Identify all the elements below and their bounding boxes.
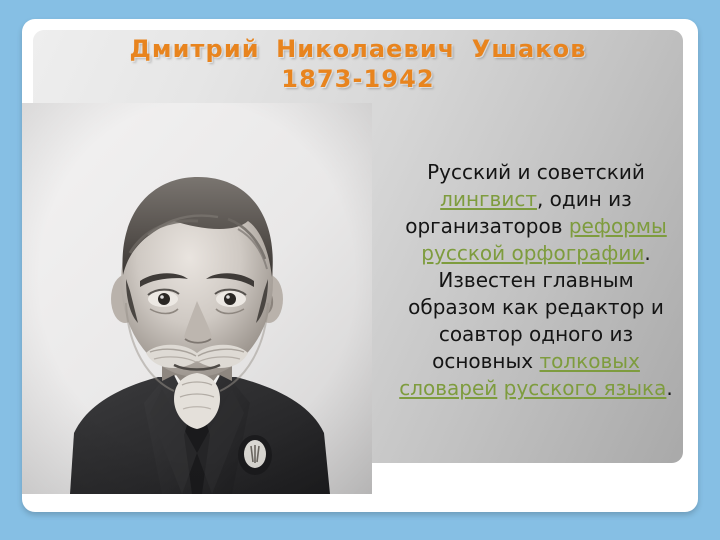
- portrait-photo: [22, 103, 372, 494]
- portrait-photo-image: [22, 103, 372, 494]
- link-russkogo-yazyka[interactable]: русского языка: [504, 376, 667, 400]
- presentation-slide: Дмитрий Николаевич Ушаков 1873-1942: [0, 0, 720, 540]
- description-text: Русский и советский лингвист, один из ор…: [392, 159, 680, 402]
- link-lingvist[interactable]: лингвист: [440, 187, 537, 211]
- description-seg-0: Русский и советский: [427, 160, 645, 184]
- description-seg-8: .: [666, 376, 672, 400]
